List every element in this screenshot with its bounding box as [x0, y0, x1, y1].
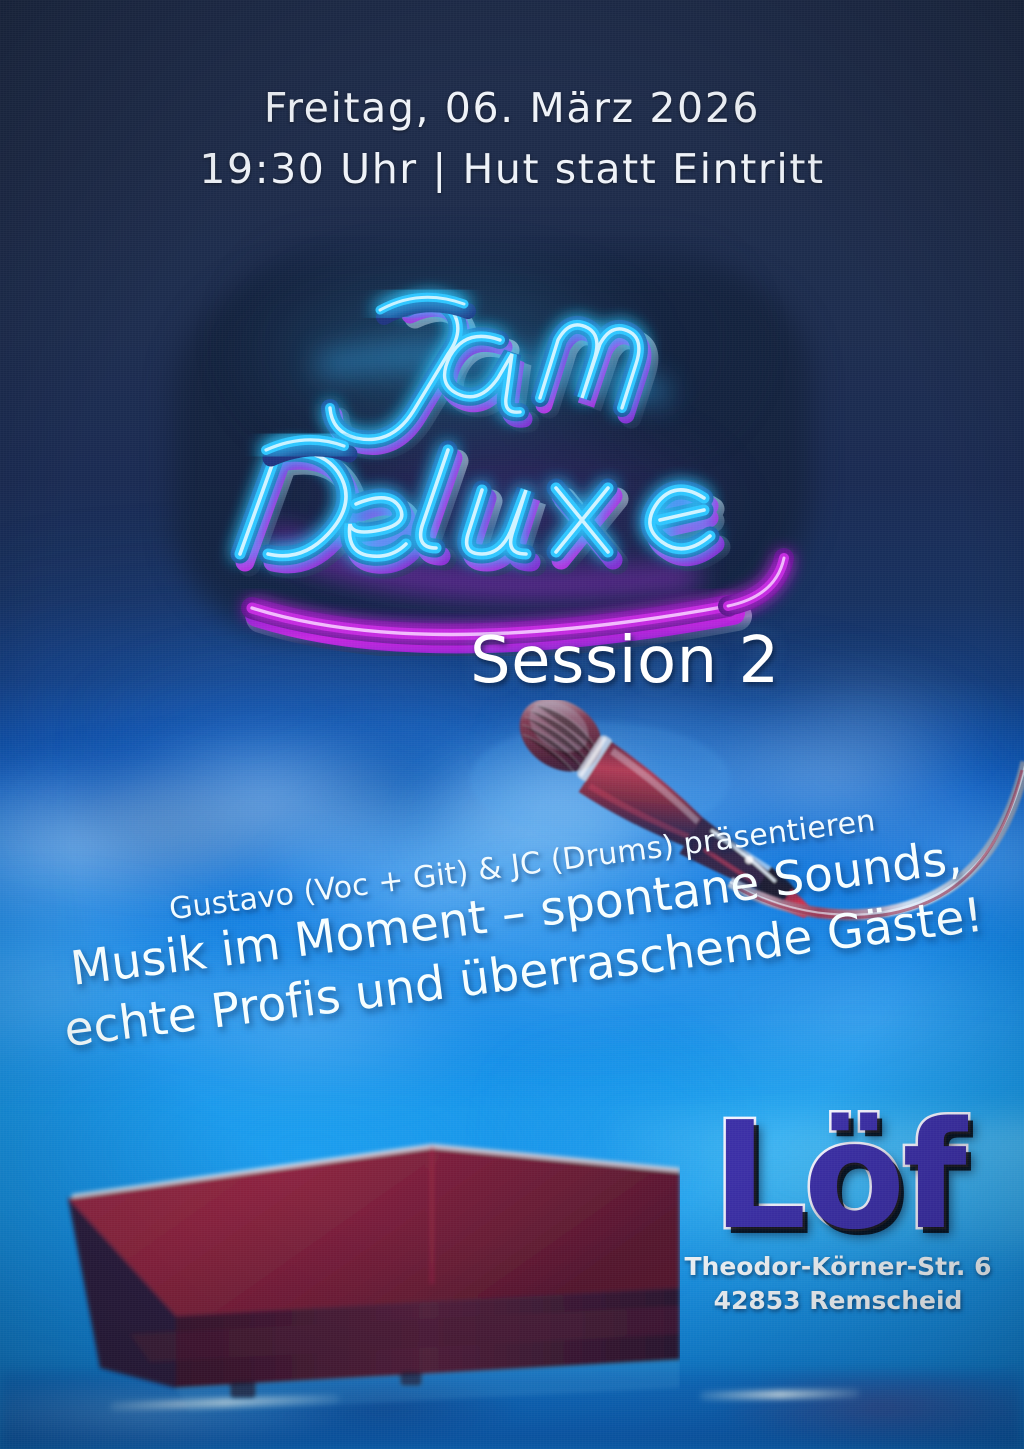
event-date: Freitag, 06. März 2026 — [0, 78, 1024, 139]
event-time-admission: 19:30 Uhr | Hut statt Eintritt — [0, 139, 1024, 200]
session-label: Session 2 — [470, 624, 780, 698]
venue-block: Löf Theodor-Körner-Str. 6 42853 Remschei… — [678, 1108, 998, 1318]
poster-canvas: Session 2 Freitag, 06. März 2026 19:30 U… — [0, 0, 1024, 1449]
event-header: Freitag, 06. März 2026 19:30 Uhr | Hut s… — [0, 78, 1024, 199]
jam-deluxe-logo — [148, 236, 868, 656]
venue-address-street: Theodor-Körner-Str. 6 — [678, 1250, 998, 1284]
venue-address-city: 42853 Remscheid — [678, 1284, 998, 1318]
keyboard-icon — [0, 1120, 680, 1449]
venue-logo-loef: Löf — [678, 1108, 998, 1244]
